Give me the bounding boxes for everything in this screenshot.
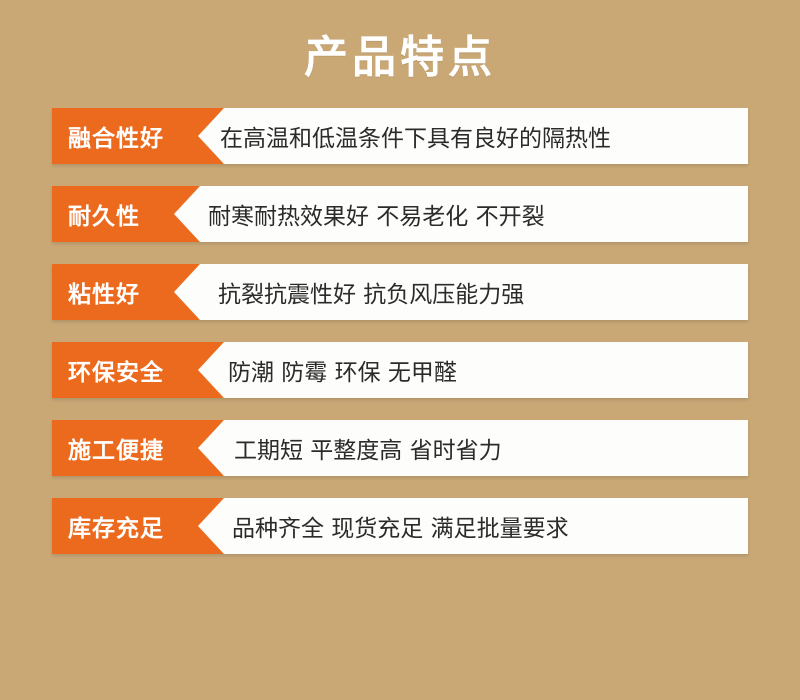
feature-tag: 环保安全 xyxy=(52,342,198,398)
feature-description: 耐寒耐热效果好 不易老化 不开裂 xyxy=(208,186,545,242)
feature-tag: 融合性好 xyxy=(52,108,198,164)
list-item: 施工便捷 工期短 平整度高 省时省力 xyxy=(52,420,748,476)
feature-description: 防潮 防霉 环保 无甲醛 xyxy=(228,342,457,398)
feature-tag: 粘性好 xyxy=(52,264,174,320)
list-item: 耐久性 耐寒耐热效果好 不易老化 不开裂 xyxy=(52,186,748,242)
list-item: 环保安全 防潮 防霉 环保 无甲醛 xyxy=(52,342,748,398)
feature-description: 品种齐全 现货充足 满足批量要求 xyxy=(232,498,569,554)
feature-list: 融合性好 在高温和低温条件下具有良好的隔热性 耐久性 耐寒耐热效果好 不易老化 … xyxy=(0,108,800,554)
page-title: 产品特点 xyxy=(0,0,800,80)
feature-tag: 耐久性 xyxy=(52,186,174,242)
list-item: 融合性好 在高温和低温条件下具有良好的隔热性 xyxy=(52,108,748,164)
feature-description: 在高温和低温条件下具有良好的隔热性 xyxy=(220,108,611,164)
feature-tag: 施工便捷 xyxy=(52,420,198,476)
list-item: 库存充足 品种齐全 现货充足 满足批量要求 xyxy=(52,498,748,554)
product-features-page: 产品特点 融合性好 在高温和低温条件下具有良好的隔热性 耐久性 耐寒耐热效果好 … xyxy=(0,0,800,700)
list-item: 粘性好 抗裂抗震性好 抗负风压能力强 xyxy=(52,264,748,320)
feature-description: 工期短 平整度高 省时省力 xyxy=(234,420,502,476)
feature-description: 抗裂抗震性好 抗负风压能力强 xyxy=(218,264,524,320)
feature-tag: 库存充足 xyxy=(52,498,198,554)
